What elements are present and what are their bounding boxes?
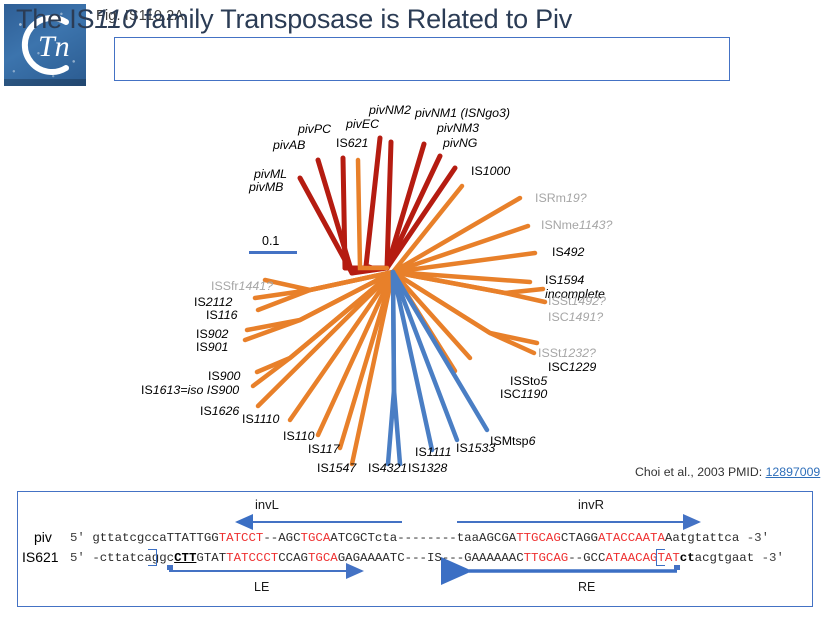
prefix: ISNme	[541, 218, 579, 232]
italic-text: pivNM2	[369, 103, 411, 117]
is621-sequence: 5' -cttatcaggcCTTGTATTATCCCTCCAGTGCAGAGA…	[70, 551, 784, 565]
prefix: ISRm	[535, 191, 566, 205]
italic-number: 1232?	[561, 346, 595, 360]
prefix: IS	[471, 164, 483, 178]
prefix: ISC	[548, 310, 569, 324]
prefix: ISMtsp	[490, 434, 529, 448]
seq-segment: TATCCT	[219, 531, 264, 545]
italic-number: 1594	[557, 273, 585, 287]
orange-right-branches	[393, 272, 545, 371]
three-prime-marker: -3'	[739, 531, 769, 545]
seq-segment: ATCGCTcta--------taaAGCGA	[330, 531, 516, 545]
prefix: IS	[283, 429, 295, 443]
italic-number: 1492?	[571, 294, 605, 308]
pmid-label: PMID:	[728, 465, 766, 479]
seq-segment: --AGC	[263, 531, 300, 545]
scale-label: 0.1	[262, 234, 279, 248]
tree-label-pivpc: pivPC	[298, 123, 331, 137]
re-label: RE	[578, 580, 595, 594]
italic-number: 1626	[212, 404, 240, 418]
tree-label-is1110: IS1110	[242, 413, 279, 427]
prefix: ISSt	[548, 294, 571, 308]
tree-label-isst1492-: ISSt1492?	[548, 295, 606, 309]
title-box	[114, 37, 730, 81]
prefix: IS	[415, 445, 427, 459]
page-title: The IS110 family Transposase is Related …	[16, 4, 572, 35]
italic-number: 5	[540, 374, 547, 388]
seq-segment: ATACCAATA	[598, 531, 665, 545]
italic-number: 1143?	[579, 218, 613, 232]
citation: Choi et al., 2003 PMID: 12897009	[635, 465, 820, 479]
italic-number: 4321	[380, 461, 408, 475]
tree-label-is117: IS117	[308, 443, 339, 457]
seq-segment: -cttatcaggc	[92, 551, 174, 565]
prefix: IS	[552, 245, 564, 259]
italic-number: 901	[208, 340, 229, 354]
tree-label-pivnm2: pivNM2	[369, 104, 411, 118]
italic-number: 1547	[329, 461, 357, 475]
italic-number: 6	[529, 434, 536, 448]
piv-sequence: 5' gttatcgccaTTATTGGTATCCT--AGCTGCAATCGC…	[70, 531, 769, 545]
tree-label-pivec: pivEC	[346, 118, 379, 132]
tree-label-is900: IS900	[208, 370, 240, 384]
citation-text: Choi et al., 2003	[635, 465, 728, 479]
is621-left-bracket	[148, 549, 157, 566]
tree-label-is4321: IS4321	[368, 462, 407, 476]
prefix: ISC	[500, 387, 521, 401]
le-label: LE	[254, 580, 269, 594]
prefix: IS	[317, 461, 329, 475]
prefix: IS	[242, 412, 254, 426]
tree-label-pivnm3: pivNM3	[437, 122, 479, 136]
tree-label-is492: IS492	[552, 246, 584, 260]
prefix: IS	[408, 461, 420, 475]
title-part-italic: 110	[94, 4, 136, 34]
tree-label-pivnm1-isngo3-: pivNM1 (ISNgo3)	[415, 107, 510, 121]
italic-text: pivNM1 (ISNgo3)	[415, 106, 510, 120]
italic-number: 19?	[566, 191, 587, 205]
title-part-3: family Transposase is Related to Piv	[137, 4, 572, 34]
italic-number: 1229	[569, 360, 597, 374]
phylogenetic-tree: 0.1 pivABpivPCIS621pivECpivNM2pivNM1 (IS…	[0, 90, 830, 485]
seq-segment: TGCA	[308, 551, 338, 565]
prefix: IS	[368, 461, 380, 475]
tree-label-isst1232-: ISSt1232?	[538, 347, 596, 361]
tree-label-pivng: pivNG	[443, 137, 477, 151]
three-prime-marker: -3'	[754, 551, 784, 565]
orange-upper-right-branches	[393, 186, 535, 282]
italic-number: 621	[348, 136, 369, 150]
prefix: IS	[456, 441, 468, 455]
seq-segment: TTGCAG	[516, 531, 561, 545]
seq-segment: ct	[680, 551, 695, 565]
is621-row-name: IS621	[22, 549, 59, 565]
orange-left-lower-branches	[253, 272, 393, 464]
italic-number: 1111	[427, 445, 452, 459]
alignment-arrows	[17, 491, 813, 607]
scale-bar	[249, 251, 297, 254]
prefix: ISSt	[538, 346, 561, 360]
italic-number: 1491?	[569, 310, 603, 324]
prefix: IS	[141, 383, 153, 397]
seq-segment: gttatcgcca	[92, 531, 166, 545]
seq-segment: GTAT	[196, 551, 226, 565]
seq-segment: --GCC	[568, 551, 605, 565]
italic-text: pivNM3	[437, 121, 479, 135]
italic-number: 116	[218, 308, 238, 322]
italic-number: 110	[295, 429, 315, 443]
seq-segment: TTGCAG	[524, 551, 569, 565]
tree-label-is1328: IS1328	[408, 462, 447, 476]
pmid-link[interactable]: 12897009	[766, 465, 821, 479]
prefix: ISC	[548, 360, 569, 374]
italic-text: pivML	[254, 167, 287, 181]
seq-segment: CCAG	[278, 551, 308, 565]
seq-segment: TATCCCT	[226, 551, 278, 565]
piv-row-name: piv	[34, 529, 52, 545]
italic-number: 1000	[483, 164, 511, 178]
prefix: ISSfr	[211, 279, 239, 293]
prefix: IS	[196, 327, 208, 341]
prefix: IS	[545, 273, 557, 287]
tree-branches	[0, 90, 830, 485]
italic-number: 900	[220, 369, 241, 383]
title-part-1: The IS	[16, 4, 94, 34]
italic-number: 902	[208, 327, 229, 341]
italic-number: 1441?	[239, 279, 273, 293]
tree-label-is1547: IS1547	[317, 462, 356, 476]
prefix: IS	[194, 295, 206, 309]
tree-label-isc1491-: ISC1491?	[548, 311, 603, 325]
tree-label-issfr1441-: ISSfr1441?	[211, 280, 273, 294]
is621-right-bracket	[656, 549, 665, 566]
tree-label-is621: IS621	[336, 137, 368, 151]
seq-segment: Aatgtattca	[665, 531, 739, 545]
italic-text: pivMB	[249, 180, 283, 194]
tree-label-pivmb: pivMB	[249, 181, 283, 195]
italic-text: pivNG	[443, 136, 477, 150]
italic-number: 1613=iso IS900	[153, 383, 239, 397]
tree-label-isrm19-: ISRm19?	[535, 192, 587, 206]
prefix: IS	[336, 136, 348, 150]
five-prime-marker: 5'	[70, 551, 92, 565]
italic-number: 1190	[521, 387, 548, 401]
seq-segment: ATAACAGTAT	[605, 551, 679, 565]
italic-text: pivPC	[298, 122, 331, 136]
tree-label-is1594: IS1594	[545, 274, 584, 288]
seq-segment: TTATTGG	[167, 531, 219, 545]
prefix: ISSto	[510, 374, 540, 388]
prefix: IS	[208, 369, 220, 383]
tree-label-isc1229: ISC1229	[548, 361, 596, 375]
italic-number: 492	[564, 245, 585, 259]
prefix: IS	[196, 340, 208, 354]
italic-text: pivAB	[273, 138, 305, 152]
tree-label-is1626: IS1626	[200, 405, 239, 419]
tree-label-is1613-iso-is900: IS1613=iso IS900	[141, 384, 239, 398]
tree-label-is1111: IS1111	[415, 446, 452, 460]
five-prime-marker: 5'	[70, 531, 92, 545]
tree-label-pivab: pivAB	[273, 139, 305, 153]
seq-segment: CTAGG	[561, 531, 598, 545]
seq-segment: TGCA	[301, 531, 331, 545]
seq-segment: CTT	[174, 551, 196, 565]
italic-number: 117	[320, 442, 340, 456]
italic-number: 1328	[420, 461, 448, 475]
tree-label-isc1190: ISC1190	[500, 388, 547, 402]
italic-text: pivEC	[346, 117, 379, 131]
prefix: IS	[206, 308, 218, 322]
tree-label-is116: IS116	[206, 309, 237, 323]
italic-number: 1110	[254, 412, 280, 426]
prefix: IS	[200, 404, 212, 418]
prefix: IS	[308, 442, 320, 456]
logo-shadow	[4, 79, 86, 86]
seq-segment: acgtgaat	[695, 551, 755, 565]
tree-label-is1000: IS1000	[471, 165, 510, 179]
seq-segment: GAGAAAATC---IS---GAAAAAAC	[338, 551, 524, 565]
tree-label-is901: IS901	[196, 341, 228, 355]
tree-label-isnme1143-: ISNme1143?	[541, 219, 612, 233]
red-clade-branches	[300, 138, 455, 273]
italic-number: 2112	[206, 295, 233, 309]
tree-label-ismtsp6: ISMtsp6	[490, 435, 535, 449]
